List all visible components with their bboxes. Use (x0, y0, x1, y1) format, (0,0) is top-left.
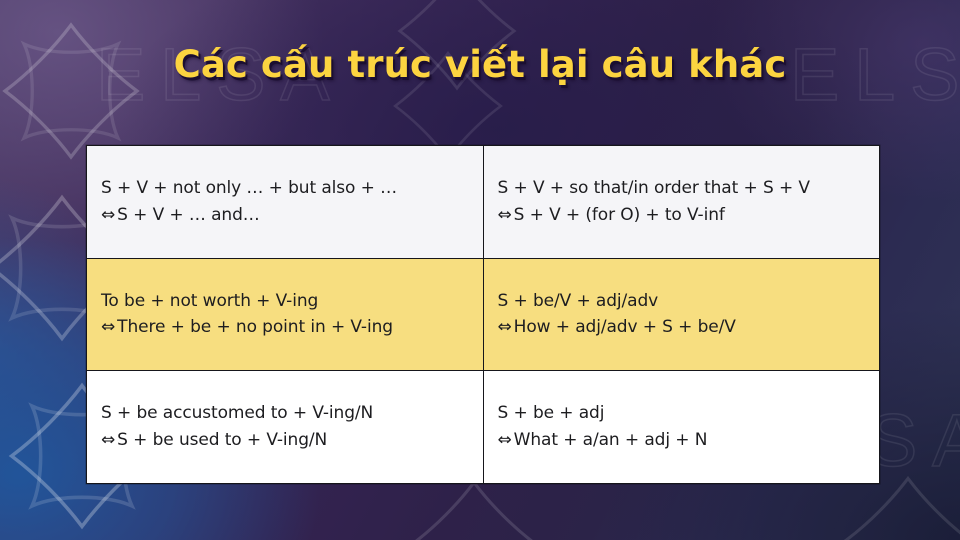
structure-line-rewrite: ⇔There + be + no point in + V-ing (101, 314, 483, 341)
table-cell-r2c1: To be + not worth + V-ing ⇔There + be + … (87, 258, 484, 371)
structure-line-rewrite: ⇔How + adj/adv + S + be/V (498, 314, 880, 341)
equivalence-icon: ⇔ (498, 317, 514, 337)
structure-line-rewrite: ⇔What + a/an + adj + N (498, 427, 880, 454)
structure-line-original: To be + not worth + V-ing (101, 288, 483, 315)
structure-rewrite-text: S + be used to + V-ing/N (117, 430, 327, 450)
structure-line-rewrite: ⇔S + be used to + V-ing/N (101, 427, 483, 454)
structure-rewrite-text: S + V + (for O) + to V-inf (514, 205, 725, 225)
table-cell-r1c1: S + V + not only … + but also + … ⇔S + V… (87, 146, 484, 259)
table-cell-r1c2: S + V + so that/in order that + S + V ⇔S… (483, 146, 880, 259)
equivalence-icon: ⇔ (101, 205, 117, 225)
slide-canvas: ELSA ELSA SA Các cấu trúc viết lại câu k… (0, 0, 960, 540)
table-row: To be + not worth + V-ing ⇔There + be + … (87, 258, 880, 371)
equivalence-icon: ⇔ (498, 430, 514, 450)
slide-title: Các cấu trúc viết lại câu khác (0, 44, 960, 85)
structure-line-rewrite: ⇔S + V + (for O) + to V-inf (498, 202, 880, 229)
structure-line-original: S + V + not only … + but also + … (101, 175, 483, 202)
table-row: S + V + not only … + but also + … ⇔S + V… (87, 146, 880, 259)
structure-line-rewrite: ⇔S + V + … and… (101, 202, 483, 229)
table-row: S + be accustomed to + V-ing/N ⇔S + be u… (87, 371, 880, 484)
equivalence-icon: ⇔ (101, 317, 117, 337)
table-cell-r3c2: S + be + adj ⇔What + a/an + adj + N (483, 371, 880, 484)
structure-rewrite-text: S + V + … and… (117, 205, 260, 225)
structure-rewrite-text: How + adj/adv + S + be/V (514, 317, 736, 337)
table-cell-r2c2: S + be/V + adj/adv ⇔How + adj/adv + S + … (483, 258, 880, 371)
equivalence-icon: ⇔ (498, 205, 514, 225)
structure-line-original: S + be/V + adj/adv (498, 288, 880, 315)
structure-line-original: S + be accustomed to + V-ing/N (101, 400, 483, 427)
brand-watermark-bottom-right: SA (868, 398, 960, 483)
structure-line-original: S + V + so that/in order that + S + V (498, 175, 880, 202)
equivalence-icon: ⇔ (101, 430, 117, 450)
sentence-structures-table: S + V + not only … + but also + … ⇔S + V… (86, 145, 880, 484)
table-cell-r3c1: S + be accustomed to + V-ing/N ⇔S + be u… (87, 371, 484, 484)
structure-rewrite-text: There + be + no point in + V-ing (117, 317, 393, 337)
structure-rewrite-text: What + a/an + adj + N (514, 430, 708, 450)
structure-line-original: S + be + adj (498, 400, 880, 427)
